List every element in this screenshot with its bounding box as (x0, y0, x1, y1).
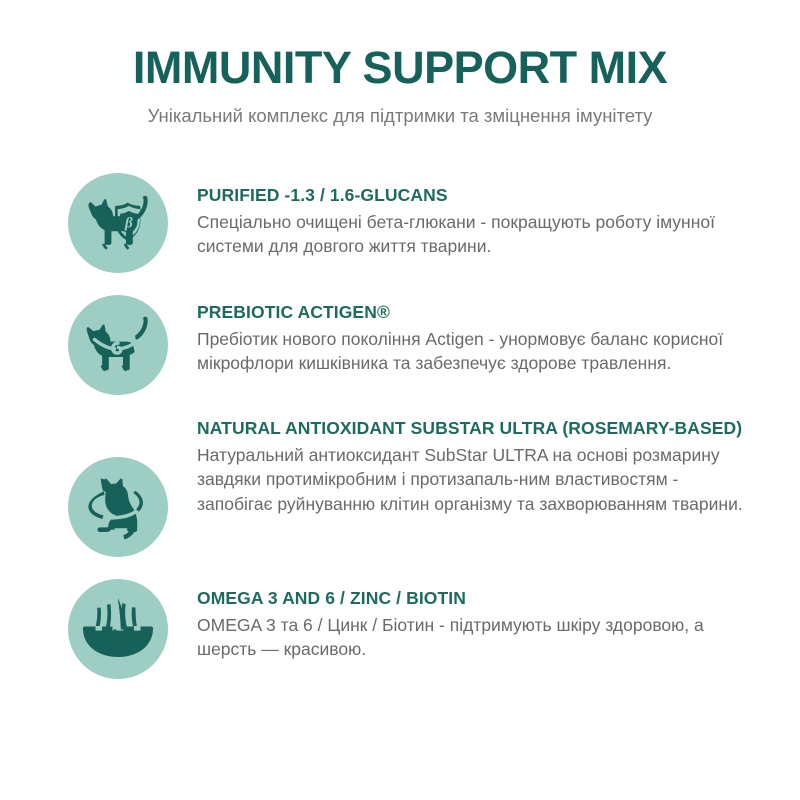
feature-text: PURIFIED -1.3 / 1.6-GLUCANS Спеціально о… (168, 173, 756, 258)
feature-title: PURIFIED -1.3 / 1.6-GLUCANS (197, 184, 756, 206)
feature-icon-container (68, 295, 168, 395)
page-subtitle: Унікальний комплекс для підтримки та змі… (40, 105, 760, 127)
feature-item-glucans: β PURIFIED -1.3 / 1.6-GLUCANS Спеціально… (68, 173, 756, 273)
feature-item-antioxidant: NATURAL ANTIOXIDANT SUBSTAR ULTRA (ROSEM… (68, 417, 756, 557)
header: IMMUNITY SUPPORT MIX Унікальний комплекс… (0, 0, 800, 127)
feature-icon-container (68, 579, 168, 679)
svg-text:β: β (124, 216, 133, 232)
sitting-cat-orbit-icon (80, 471, 156, 543)
icon-circle (68, 295, 168, 395)
feature-description: Спеціально очищені бета-глюкани - покращ… (197, 210, 756, 259)
feature-icon-container: β (68, 173, 168, 273)
hair-follicle-icon (79, 597, 157, 661)
icon-circle: β (68, 173, 168, 273)
feature-description: Пребіотик нового покоління Actigen - уно… (197, 327, 756, 376)
feature-title: PREBIOTIC ACTIGEN® (197, 301, 756, 323)
feature-title: OMEGA 3 AND 6 / ZINC / BIOTIN (197, 587, 756, 609)
feature-description: Натуральний антиоксидант SubStar ULTRA н… (197, 443, 756, 517)
feature-icon-container (68, 417, 168, 557)
page-title: IMMUNITY SUPPORT MIX (40, 44, 760, 91)
feature-title: NATURAL ANTIOXIDANT SUBSTAR ULTRA (ROSEM… (197, 417, 756, 439)
feature-item-omega: OMEGA 3 AND 6 / ZINC / BIOTIN OMEGA 3 та… (68, 579, 756, 679)
icon-circle (68, 579, 168, 679)
feature-text: NATURAL ANTIOXIDANT SUBSTAR ULTRA (ROSEM… (168, 417, 756, 516)
icon-circle (68, 457, 168, 557)
feature-text: OMEGA 3 AND 6 / ZINC / BIOTIN OMEGA 3 та… (168, 579, 756, 661)
cat-shield-beta-icon: β (79, 190, 157, 256)
feature-list: β PURIFIED -1.3 / 1.6-GLUCANS Спеціально… (0, 173, 800, 679)
feature-description: OMEGA 3 та 6 / Цинк / Біотин - підтримую… (197, 613, 756, 662)
feature-item-prebiotic: PREBIOTIC ACTIGEN® Пребіотик нового поко… (68, 295, 756, 395)
cat-digestion-arrow-icon (78, 312, 158, 378)
feature-text: PREBIOTIC ACTIGEN® Пребіотик нового поко… (168, 295, 756, 375)
infographic-page: IMMUNITY SUPPORT MIX Унікальний комплекс… (0, 0, 800, 800)
